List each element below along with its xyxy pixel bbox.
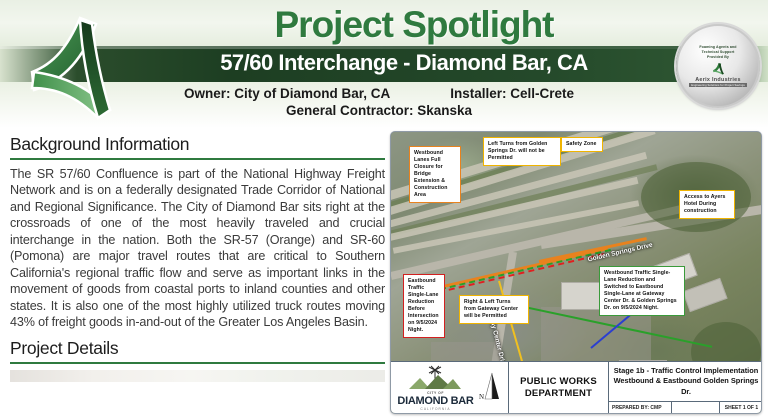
aerix-seal-badge: Foaming Agents and Technical Support Pro… [676,24,760,108]
department-line-1: PUBLIC WORKS [520,376,597,388]
north-arrow-icon: N [476,371,502,405]
building [561,282,601,310]
callout-left-turns-golden-springs[interactable]: Left Turns from Golden Springs Dr. will … [483,137,561,166]
title-block-right: Stage 1b - Traffic Control Implementatio… [609,362,762,413]
credits-block: Owner: City of Diamond Bar, CA Installer… [0,86,768,118]
callout-ayers-hotel-access[interactable]: Access to Ayers Hotel During constructio… [679,190,735,219]
building [682,278,727,312]
city-name-label: DIAMOND BAR [397,395,473,407]
header-banner: Project Spotlight 57/60 Interchange - Di… [0,0,768,128]
installer-label: Installer: Cell-Crete [450,86,574,101]
callout-safety-zone[interactable]: Safety Zone [561,137,603,152]
seal-brand: Aerix Industries [695,77,741,83]
project-details-rule [10,362,385,364]
project-details-heading: Project Details [10,338,385,362]
title-block-meta-row: PREPARED BY: CMP SHEET 1 OF 1 [609,402,762,413]
prepared-by-cell: PREPARED BY: CMP [609,402,672,413]
background-paragraph: The SR 57/60 Confluence is part of the N… [10,166,385,331]
sheet-description-line-2: Westbound & Eastbound Golden Springs Dr. [612,376,760,397]
sheet-description: Stage 1b - Traffic Control Implementatio… [609,362,762,402]
seal-aerix-icon [712,62,725,75]
left-content-column: Background Information The SR 57/60 Conf… [10,134,385,418]
drawing-title-block: CITY OF DIAMOND BAR CALIFORNIA N PUBLIC … [391,361,762,413]
general-contractor-label: General Contractor: Skanska [286,103,472,118]
sheet-number-cell: SHEET 1 OF 1 [720,402,762,413]
callout-westbound-switch[interactable]: Westbound Traffic Single-Lane Reduction … [599,266,685,316]
city-state-label: CALIFORNIA [420,407,450,411]
project-subtitle: 57/60 Interchange - Diamond Bar, CA [0,50,768,76]
seal-tagline: Engineering Solutions for Project Saving… [689,83,747,87]
city-logo-cell: CITY OF DIAMOND BAR CALIFORNIA N [391,362,509,413]
background-heading: Background Information [10,134,385,158]
blank-meta-cell [672,402,720,413]
traffic-control-map-panel[interactable]: Golden Springs Drive Gateway Center Driv… [390,131,762,414]
diamond-bar-logo: CITY OF DIAMOND BAR CALIFORNIA [397,365,473,411]
north-letter: N [479,393,484,401]
department-cell: PUBLIC WORKS DEPARTMENT [509,362,609,413]
callout-westbound-closure[interactable]: Westbound Lanes Full Closure for Bridge … [409,146,461,203]
sheet-description-line-1: Stage 1b - Traffic Control Implementatio… [614,366,759,376]
windmill-hills-icon [409,365,461,391]
department-line-2: DEPARTMENT [525,388,592,400]
callout-eastbound-reduction[interactable]: Eastbound Traffic Single-Lane Reduction … [403,274,445,338]
owner-label: Owner: City of Diamond Bar, CA [184,86,390,101]
background-heading-rule [10,158,385,160]
seal-line-3: Provided By [707,55,729,60]
project-details-image-peek [10,370,385,382]
callout-gateway-turns[interactable]: Right & Left Turns from Gateway Center w… [459,295,529,324]
page-title: Project Spotlight [0,4,768,46]
